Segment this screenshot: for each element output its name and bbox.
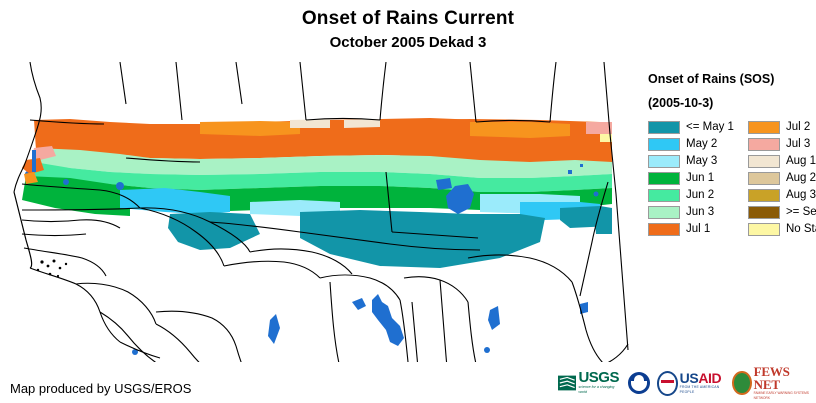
- usgs-wordmark: USGS: [578, 371, 620, 385]
- legend-label-may1: <= May 1: [686, 121, 734, 134]
- swatch-jun1: [648, 172, 680, 185]
- swatch-aug3: [748, 189, 780, 202]
- legend-label-aug3: Aug 3: [786, 189, 816, 202]
- swatch-jun3: [648, 206, 680, 219]
- legend-column-right: Jul 2 Jul 3 Aug 1 Aug 2 Aug 3 >= Sep 1: [748, 120, 816, 237]
- noaa-logo: [628, 368, 650, 398]
- usaid-us: US: [680, 370, 699, 386]
- legend-item-nostart[interactable]: No Start: [748, 222, 816, 237]
- swatch-nostart: [748, 223, 780, 236]
- swatch-may1: [648, 121, 680, 134]
- legend-item-may3[interactable]: May 3: [648, 154, 734, 169]
- legend-date: (2005-10-3): [648, 96, 816, 111]
- zone-jul2-a: [200, 121, 300, 136]
- legend-label-jun1: Jun 1: [686, 172, 714, 185]
- legend-item-jul3[interactable]: Jul 3: [748, 137, 816, 152]
- legend-item-jul1[interactable]: Jul 1: [648, 222, 734, 237]
- map-panel[interactable]: [0, 62, 636, 362]
- fews-globe-icon: [732, 371, 752, 395]
- usaid-tagline: FROM THE AMERICAN PEOPLE: [680, 385, 725, 395]
- water-speck-4: [594, 192, 599, 197]
- usaid-wordmark: USAID: [680, 372, 725, 385]
- legend-item-jun3[interactable]: Jun 3: [648, 205, 734, 220]
- legend-label-aug2: Aug 2: [786, 172, 816, 185]
- legend-column-left: <= May 1 May 2 May 3 Jun 1 Jun 2 Jun 3: [648, 120, 734, 237]
- swatch-may3: [648, 155, 680, 168]
- legend-item-aug2[interactable]: Aug 2: [748, 171, 816, 186]
- legend-item-may1[interactable]: <= May 1: [648, 120, 734, 135]
- legend-item-aug1[interactable]: Aug 1: [748, 154, 816, 169]
- zone-jul2-b: [470, 122, 570, 138]
- swatch-may2: [648, 138, 680, 151]
- legend-label-jul1: Jul 1: [686, 223, 710, 236]
- water-speck-6: [580, 164, 583, 167]
- map-legend: Onset of Rains (SOS) (2005-10-3) <= May …: [648, 72, 816, 237]
- legend-label-sep1: >= Sep 1: [786, 206, 816, 219]
- usgs-wave-icon: [558, 375, 576, 391]
- zone-jul3-east: [586, 122, 612, 134]
- legend-item-jun1[interactable]: Jun 1: [648, 171, 734, 186]
- title-block: Onset of Rains Current October 2005 Deka…: [0, 0, 816, 52]
- legend-label-may3: May 3: [686, 155, 717, 168]
- noaa-seal-icon: [628, 372, 650, 394]
- fews-tagline: FAMINE EARLY WARNING SYSTEMS NETWORK: [754, 391, 810, 401]
- zone-aug1-b: [344, 119, 380, 128]
- usaid-seal-icon: [657, 371, 678, 396]
- fews-wordmark: FEWS NET: [754, 365, 810, 391]
- usgs-logo: USGS science for a changing world: [558, 368, 621, 398]
- swatch-jul3: [748, 138, 780, 151]
- swatch-jul1: [648, 223, 680, 236]
- water-speck-1: [116, 182, 124, 190]
- logo-bar: USGS science for a changing world USAID …: [558, 368, 810, 398]
- water-speck-2: [63, 179, 69, 185]
- onset-of-rains-map[interactable]: [0, 62, 636, 362]
- lake-small-2: [484, 347, 490, 353]
- legend-label-aug1: Aug 1: [786, 155, 816, 168]
- swatch-jul2: [748, 121, 780, 134]
- legend-label-may2: May 2: [686, 138, 717, 151]
- fews-net-logo: FEWS NET FAMINE EARLY WARNING SYSTEMS NE…: [732, 368, 810, 398]
- swatch-sep1: [748, 206, 780, 219]
- legend-label-jun2: Jun 2: [686, 189, 714, 202]
- legend-item-may2[interactable]: May 2: [648, 137, 734, 152]
- legend-item-jul2[interactable]: Jul 2: [748, 120, 816, 135]
- water-speck-5: [568, 170, 572, 174]
- usaid-logo: USAID FROM THE AMERICAN PEOPLE: [657, 368, 726, 398]
- page-title: Onset of Rains Current: [0, 8, 816, 30]
- footer-credit: Map produced by USGS/EROS: [10, 381, 191, 397]
- legend-item-aug3[interactable]: Aug 3: [748, 188, 816, 203]
- legend-title: Onset of Rains (SOS): [648, 72, 816, 87]
- swatch-aug2: [748, 172, 780, 185]
- lake-chad-water-n: [436, 178, 452, 190]
- legend-columns: <= May 1 May 2 May 3 Jun 1 Jun 2 Jun 3: [648, 120, 816, 237]
- legend-label-jun3: Jun 3: [686, 206, 714, 219]
- usgs-tagline: science for a changing world: [578, 385, 620, 395]
- senegal-river: [32, 150, 36, 172]
- legend-label-jul2: Jul 2: [786, 121, 810, 134]
- swatch-aug1: [748, 155, 780, 168]
- zone-aug1-a: [290, 119, 330, 128]
- legend-item-sep1[interactable]: >= Sep 1: [748, 205, 816, 220]
- page-subtitle: October 2005 Dekad 3: [0, 34, 816, 52]
- legend-item-jun2[interactable]: Jun 2: [648, 188, 734, 203]
- legend-label-jul3: Jul 3: [786, 138, 810, 151]
- swatch-jun2: [648, 189, 680, 202]
- legend-label-nostart: No Start: [786, 223, 816, 236]
- usaid-aid: AID: [698, 370, 721, 386]
